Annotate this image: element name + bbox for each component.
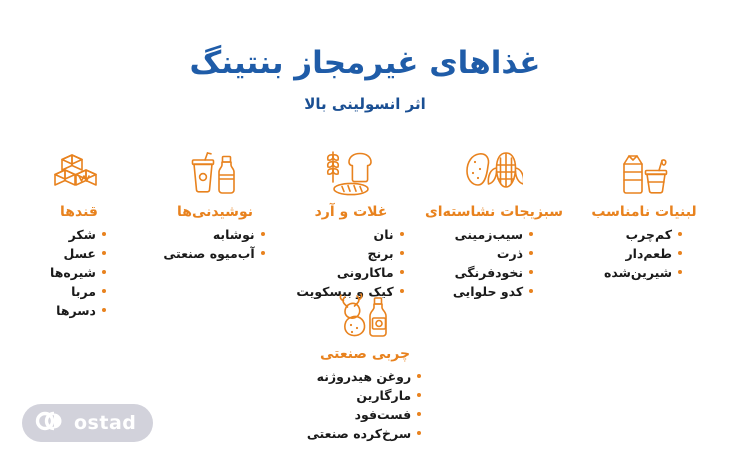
list-item: شیره‌ها [50,263,108,282]
list-item: فست‌فود [307,405,423,424]
category-title: غلات و آرد [315,204,388,220]
category-drinks: نوشیدنی‌ها نوشابه آب‌میوه صنعتی [147,148,283,263]
list-item: نان [296,225,405,244]
category-title: قندها [60,204,98,220]
fried-chicken-oil-icon [336,290,394,340]
soda-cup-bottle-icon [189,148,241,198]
sugar-cubes-icon [52,148,106,198]
list-item: سرخ‌کرده صنعتی [307,424,423,443]
list-item: نخودفرنگی [453,263,535,282]
category-item-list: نوشابه آب‌میوه صنعتی [163,225,266,263]
infographic-canvas: غذاهای غیرمجاز بنتینگ اثر انسولینی بالا [0,0,730,460]
category-grains: غلات و آرد نان برنج ماکارونی کیک و بیسکو… [283,148,419,301]
category-industrial-fats: چربی صنعتی روغن هیدروژنه مارگارین فست‌فو… [290,290,440,443]
list-item: مارگارین [307,386,423,405]
list-item: شکر [50,225,108,244]
header: غذاهای غیرمجاز بنتینگ اثر انسولینی بالا [0,44,730,113]
list-item: کم‌چرب [604,225,684,244]
potato-corn-icon [465,148,523,198]
category-title: سبزیجات نشاسته‌ای [425,204,563,220]
list-item: نوشابه [163,225,266,244]
list-item: طعم‌دار [604,244,684,263]
category-item-list: روغن هیدروژنه مارگارین فست‌فود سرخ‌کرده … [307,367,423,443]
ostad-infinity-mark-icon [35,411,67,435]
list-item: عسل [50,244,108,263]
category-title: نوشیدنی‌ها [177,204,253,220]
list-item: شیرین‌شده [604,263,684,282]
category-item-list: کم‌چرب طعم‌دار شیرین‌شده [604,225,684,282]
category-title: چربی صنعتی [320,346,410,362]
ostad-logo-text: ostad [74,414,136,433]
list-item: برنج [296,244,405,263]
list-item: سیب‌زمینی [453,225,535,244]
list-item: روغن هیدروژنه [307,367,423,386]
list-item: ماکارونی [296,263,405,282]
category-title: لبنیات نامناسب [591,204,696,220]
ostad-logo[interactable]: ostad [22,404,153,442]
list-item: ذرت [453,244,535,263]
page-subtitle: اثر انسولینی بالا [0,95,730,113]
milk-yogurt-icon [616,148,672,198]
page-title: غذاهای غیرمجاز بنتینگ [0,44,730,83]
wheat-bread-icon [320,148,382,198]
category-dairy: لبنیات نامناسب کم‌چرب طعم‌دار شیرین‌شده [569,148,719,282]
list-item: آب‌میوه صنعتی [163,244,266,263]
category-starchy-vegetables: سبزیجات نشاسته‌ای سیب‌زمینی ذرت نخودفرنگ… [419,148,569,301]
